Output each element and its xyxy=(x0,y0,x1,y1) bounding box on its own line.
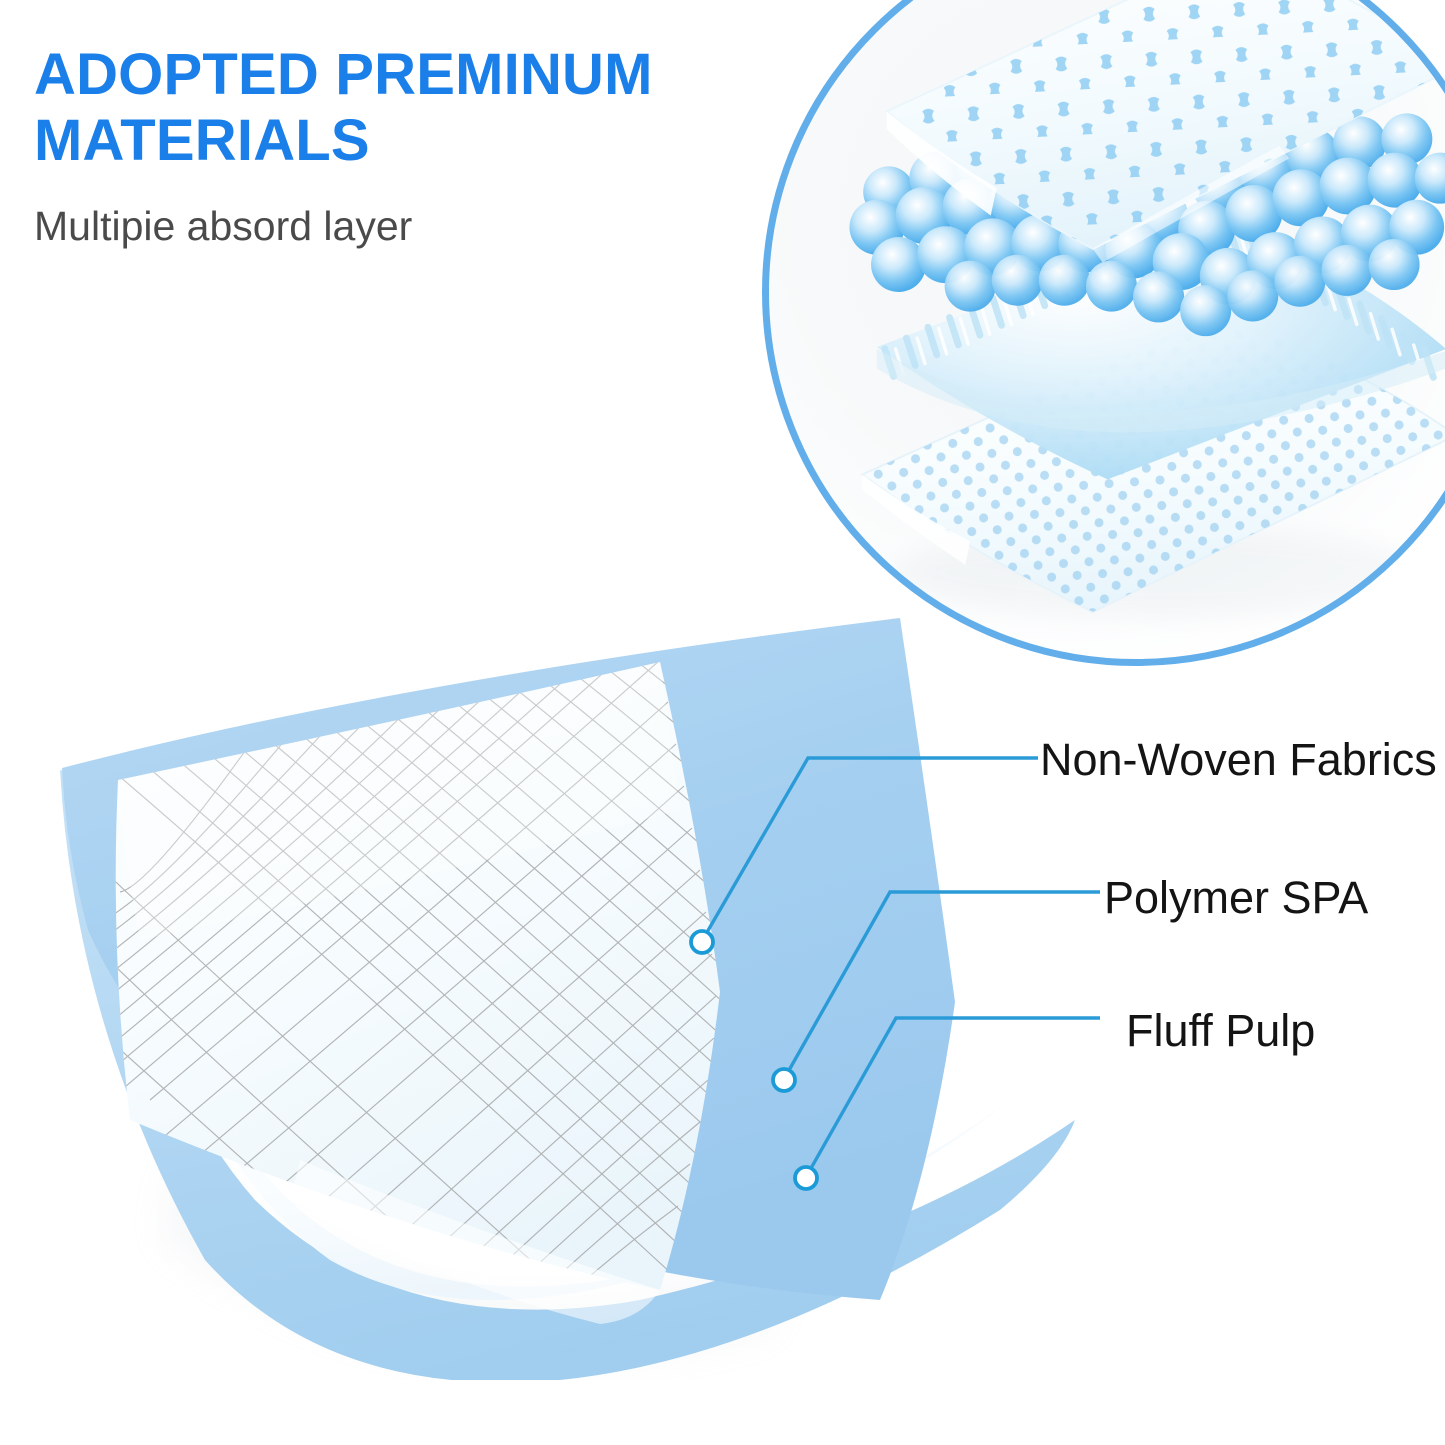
heading-block: ADOPTED PREMINUM MATERIALS Multipie abso… xyxy=(34,42,794,249)
callout-marker-polymer-spa xyxy=(773,1069,795,1091)
layer-stack-closeup xyxy=(762,0,1445,666)
callout-marker-non-woven-fabrics xyxy=(691,931,713,953)
page-title: ADOPTED PREMINUM MATERIALS xyxy=(34,42,794,174)
callout-leaders xyxy=(640,720,1100,1240)
callout-leader-fluff-pulp xyxy=(795,1018,1100,1189)
product-infographic: ADOPTED PREMINUM MATERIALS Multipie abso… xyxy=(0,0,1445,1445)
layer-stack-illustration xyxy=(769,0,1445,659)
callout-marker-fluff-pulp xyxy=(795,1167,817,1189)
callout-label-polymer-spa: Polymer SPA xyxy=(1104,875,1368,920)
callout-label-fluff-pulp: Fluff Pulp xyxy=(1126,1008,1315,1053)
inset-circle-container xyxy=(762,0,1445,666)
callout-leader-non-woven-fabrics xyxy=(691,758,1038,953)
page-subtitle: Multipie absord layer xyxy=(34,204,794,249)
callout-label-non-woven-fabrics: Non-Woven Fabrics xyxy=(1040,737,1437,782)
callout-leader-polymer-spa xyxy=(773,892,1100,1091)
